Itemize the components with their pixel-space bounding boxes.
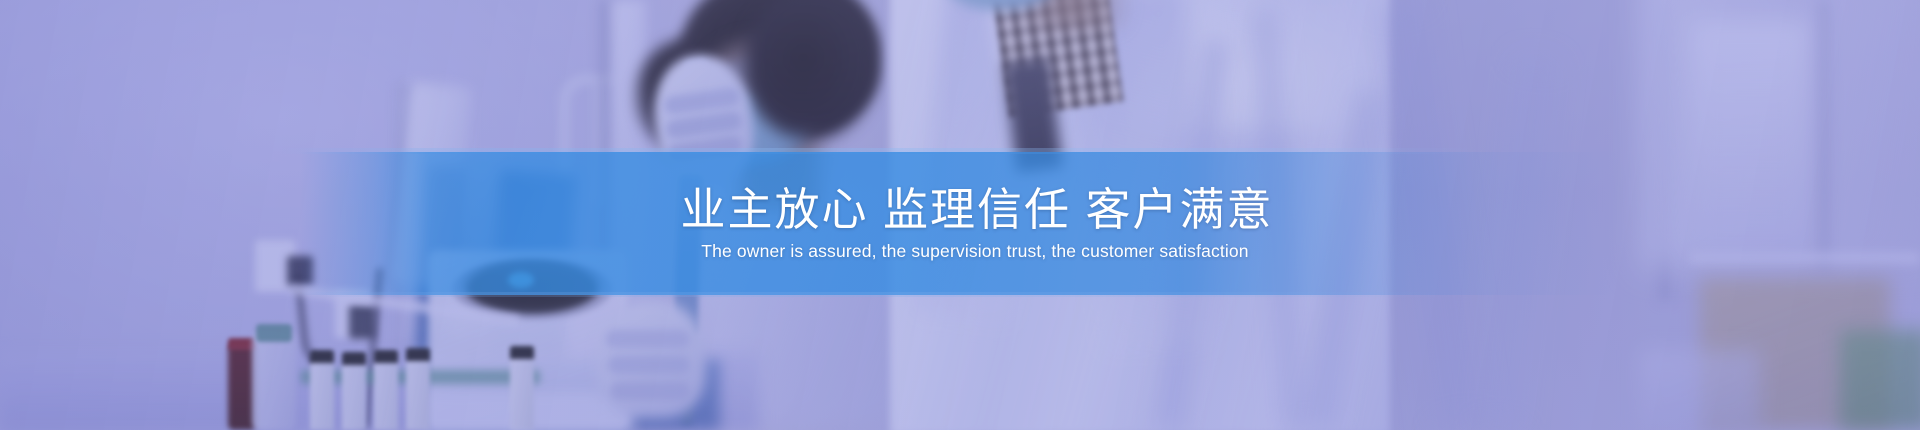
hero-banner: 业主放心 监理信任 客户满意 The owner is assured, the…: [0, 0, 1920, 430]
banner-text-block: 业主放心 监理信任 客户满意 The owner is assured, the…: [0, 152, 1920, 295]
banner-subheadline: The owner is assured, the supervision tr…: [671, 241, 1248, 262]
banner-headline: 业主放心 监理信任 客户满意: [646, 185, 1273, 235]
